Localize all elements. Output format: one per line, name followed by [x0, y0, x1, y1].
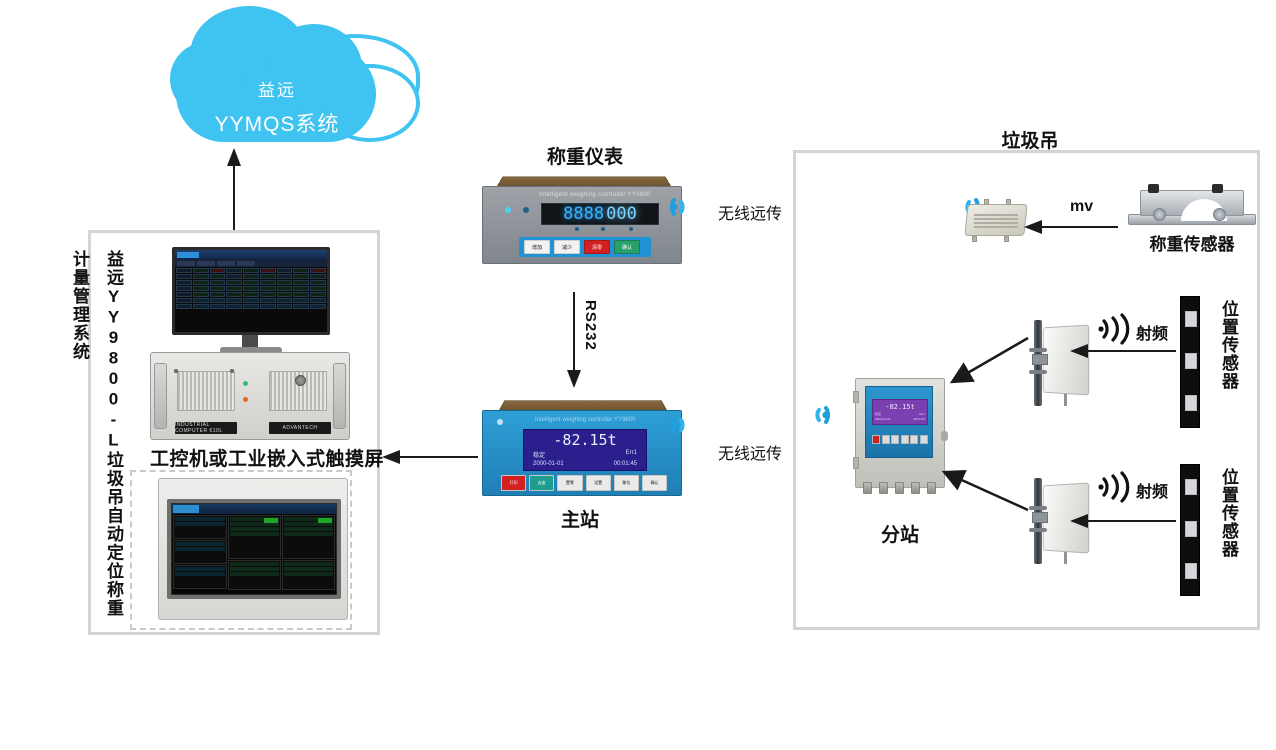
master-key-tare[interactable]: 去皮: [529, 475, 554, 491]
touchscreen-body: [172, 514, 336, 591]
substation-cable-gland: [895, 482, 904, 494]
meter-key-confirm[interactable]: 确认: [614, 240, 640, 254]
monitor-ui-cell: [310, 286, 326, 291]
monitor-ui-cell: [293, 298, 309, 303]
substation-hinge-top: [853, 391, 859, 403]
master-key-confirm[interactable]: 确认: [642, 475, 667, 491]
touchscreen-value: [175, 567, 225, 571]
industrial-pc-chassis: INDUSTRIAL COMPUTER 610L ADVANTECH: [150, 352, 350, 440]
monitor-ui-titlebar: [175, 250, 327, 259]
substation-hinge-bottom: [853, 457, 859, 469]
substation-key-print[interactable]: [872, 435, 880, 444]
pc-caption: 工控机或工业嵌入式触摸屏: [150, 444, 380, 471]
wireless-label-top: 无线远传: [718, 200, 782, 224]
position-sensor-tick: [1185, 521, 1197, 537]
monitor-ui-cell: [260, 280, 276, 285]
touchscreen-value: [175, 522, 225, 526]
transmitter-fin: [974, 222, 1018, 224]
touchscreen-value: [230, 527, 279, 531]
monitor-ui-cell: [243, 274, 259, 279]
transmitter-body: [964, 204, 1027, 236]
rf-label-bottom: 射频: [1136, 478, 1168, 502]
meter-indicator-2: [601, 227, 605, 231]
meter-front-panel: Intelligent weighing controller YY9800 8…: [482, 186, 682, 264]
master-lcd-statusrow: 稳定 Err1: [533, 450, 637, 459]
master-front-panel: Intelligent weighing controller YY9800 -…: [482, 410, 682, 496]
monitor-ui-cell: [243, 268, 259, 273]
meter-led-display: 8888 000: [541, 203, 659, 225]
monitor-ui-cell: [176, 304, 192, 309]
substation-key-tare[interactable]: [882, 435, 890, 444]
substation-key-setup[interactable]: [901, 435, 909, 444]
touchscreen-panel: [228, 515, 281, 559]
touchscreen-col-mid: [228, 515, 281, 590]
industrial-touchscreen: [158, 478, 348, 620]
arrow-antenna-bottom-to-substation: [930, 462, 1040, 572]
touchscreen-screen[interactable]: [171, 503, 337, 595]
monitor-ui-cell: [176, 298, 192, 303]
master-lcd-error: Err1: [626, 450, 637, 459]
monitor-ui-cell: [293, 292, 309, 297]
position-sensor-tick: [1185, 395, 1197, 411]
meter-indicator-3: [629, 227, 633, 231]
load-cell-sensor: [1128, 180, 1256, 232]
rf-label-top: 射频: [1136, 320, 1168, 344]
position-sensor-tick: [1185, 563, 1197, 579]
touchscreen-panel: [173, 515, 227, 539]
touchscreen-status-tag: [318, 518, 332, 523]
cloud-system: 益远 YYMQS系统: [170, 28, 430, 153]
master-lcd-weight: -82.15t: [553, 433, 616, 448]
monitor-ui-cell: [210, 304, 226, 309]
touchscreen-value: [284, 572, 333, 576]
master-brand-text: Intelligent weighing controller YY9800: [535, 417, 635, 423]
monitor-ui-cell: [243, 280, 259, 285]
arrow-panel-to-cloud-head: [227, 148, 241, 166]
substation-lcd-statusrow: 稳定 Err1: [875, 412, 925, 416]
meter-led-digits-bright: 000: [606, 206, 637, 223]
pc-screw-mid: [230, 369, 234, 373]
monitor-ui-cell: [193, 286, 209, 291]
pc-model-badge: INDUSTRIAL COMPUTER 610L: [175, 422, 237, 434]
substation-lcd-time: 00:01:45: [913, 417, 925, 421]
monitor-ui-cell: [210, 280, 226, 285]
transmitter-fin: [974, 226, 1018, 228]
monitor-ui-cell: [293, 280, 309, 285]
monitor-ui-cell: [310, 274, 326, 279]
monitor-ui-cell: [293, 268, 309, 273]
monitor-ui-button: [237, 261, 255, 266]
monitor-ui-cell: [210, 268, 226, 273]
touchscreen-col-left: [173, 515, 227, 590]
monitor-ui-cell: [293, 304, 309, 309]
substation-cable-gland: [879, 482, 888, 494]
monitor-ui-cell: [310, 268, 326, 273]
transmitter-nub: [984, 199, 989, 205]
master-station-caption: 主站: [490, 505, 670, 532]
monitor-ui-cell: [277, 280, 293, 285]
master-logo-mark: [497, 419, 503, 425]
touchscreen-panel: [228, 560, 281, 590]
monitor-ui-row: [176, 304, 326, 309]
wifi-icon-master: [668, 408, 702, 442]
touchscreen-value: [284, 567, 333, 571]
crane-area-title: 垃圾吊: [930, 126, 1130, 153]
master-lcd-time: 00:01:45: [614, 461, 637, 467]
arrow-loadcell-to-transmitter-head: [1024, 220, 1042, 234]
monitor-ui-grid: [175, 267, 327, 311]
transmitter-nub: [1006, 199, 1011, 205]
monitor-ui-cell: [193, 274, 209, 279]
monitor-ui-cell: [193, 292, 209, 297]
master-key-setup[interactable]: 设置: [586, 475, 611, 491]
monitor-ui-row: [176, 268, 326, 273]
monitor-ui-row: [176, 298, 326, 303]
master-keypad: 打印 去皮 置零 设置 移位 确认: [501, 475, 667, 491]
monitor-ui-cell: [210, 292, 226, 297]
substation-key-confirm[interactable]: [920, 435, 928, 444]
load-cell-caption: 称重传感器: [1128, 230, 1256, 255]
monitor-ui-row: [176, 274, 326, 279]
monitor-ui-cell: [243, 298, 259, 303]
monitor-ui-cell: [293, 286, 309, 291]
substation-latch[interactable]: [941, 431, 948, 441]
monitor-ui-cell: [277, 298, 293, 303]
monitor-ui-cell: [226, 274, 242, 279]
wireless-label-mid: 无线远传: [718, 440, 782, 464]
loadcell-body: [1140, 190, 1244, 216]
transmitter-nub: [1004, 236, 1009, 242]
pc-handle-right: [333, 363, 346, 429]
meter-brand-text: Intelligent weighing controller YY9800: [539, 192, 651, 198]
monitor-ui-cell: [310, 280, 326, 285]
arrow-sensor-bottom-to-antenna-line: [1086, 520, 1176, 522]
monitor-ui-cell: [226, 298, 242, 303]
touchscreen-panel: [282, 560, 335, 590]
arrow-loadcell-to-transmitter-line: [1040, 226, 1118, 228]
weighing-instrument-title: 称重仪表: [495, 142, 675, 169]
substation-lcd-datetimerow: 2000-01-01 00:01:45: [875, 417, 925, 421]
master-key-print[interactable]: 打印: [501, 475, 526, 491]
substation-key-zero[interactable]: [891, 435, 899, 444]
loadcell-bolt-right: [1212, 184, 1223, 193]
touchscreen-value: [175, 547, 225, 551]
monitor-ui-cell: [260, 274, 276, 279]
diagram-canvas: 益远 YYMQS系统 益远YY9800-L垃圾吊自动定位称重计量管理系统: [0, 0, 1276, 750]
master-lcd-status: 稳定: [533, 450, 545, 459]
meter-led-digits: 8888: [563, 206, 604, 223]
rs232-arrow-head: [567, 370, 581, 388]
position-sensor-bar-bottom: [1180, 464, 1200, 596]
monitor-screen: [172, 247, 330, 335]
pc-vent-left: [177, 371, 235, 411]
touchscreen-panel: [282, 515, 335, 559]
monitor-ui-cell: [260, 304, 276, 309]
arrow-master-to-panel-head: [382, 450, 400, 464]
monitor-ui-cell: [193, 304, 209, 309]
pc-brand-badge: ADVANTECH: [269, 422, 331, 434]
arrow-antenna-top-to-substation: [940, 330, 1040, 430]
monitor-ui-cell: [193, 280, 209, 285]
arrow-panel-to-cloud-line: [233, 165, 235, 233]
rs232-label: RS232: [582, 300, 599, 351]
arrow-master-to-panel-line: [398, 456, 478, 458]
monitor-ui-cell: [226, 286, 242, 291]
pc-screw-left: [174, 369, 178, 373]
substation-key-shift[interactable]: [910, 435, 918, 444]
substation-lcd: -82.15t 稳定 Err1 2000-01-01 00:01:45: [872, 399, 928, 425]
substation-keypad: [872, 435, 928, 444]
master-key-zero[interactable]: 置零: [557, 475, 582, 491]
wifi-icon-substation: [798, 398, 832, 432]
loadcell-bolt-left: [1148, 184, 1159, 193]
left-panel-title: 益远YY9800-L垃圾吊自动定位称重计量管理系统: [96, 250, 130, 620]
mv-signal-label: mv: [1070, 198, 1093, 216]
monitor-ui-cell: [310, 298, 326, 303]
touchscreen-value: [230, 562, 279, 566]
monitor-ui-cell: [243, 304, 259, 309]
meter-key-zero[interactable]: 清零: [584, 240, 610, 254]
touchscreen-value: [284, 527, 333, 531]
monitor-ui-cell: [260, 286, 276, 291]
position-sensor-tick: [1185, 311, 1197, 327]
monitor-ui-cell: [260, 292, 276, 297]
arrow-sensor-bottom-to-antenna-head: [1070, 514, 1088, 528]
monitor-ui-cell: [210, 298, 226, 303]
monitor-ui-cell: [277, 286, 293, 291]
monitor-ui-cell: [176, 292, 192, 297]
monitor-ui-button: [217, 261, 235, 266]
loadcell-hole-left: [1153, 208, 1166, 221]
master-lcd-date: 2000-01-01: [533, 461, 564, 467]
touchscreen-value: [175, 572, 225, 576]
monitor-ui-cell: [226, 304, 242, 309]
meter-keypad: 增加 减少 清零 确认: [519, 237, 651, 257]
antenna-connector: [1064, 552, 1067, 564]
monitor-ui-cell: [226, 268, 242, 273]
monitor-ui-cell: [310, 304, 326, 309]
position-sensor-bar-top: [1180, 296, 1200, 428]
substation-cable-gland: [911, 482, 920, 494]
monitor-ui-cell: [260, 268, 276, 273]
touchscreen-value: [175, 542, 225, 546]
master-lcd-datetimerow: 2000-01-01 00:01:45: [533, 461, 637, 467]
monitor-ui-cell: [210, 286, 226, 291]
loadcell-hole-right: [1213, 208, 1226, 221]
monitor-ui-cell: [226, 280, 242, 285]
substation-lcd-status: 稳定: [875, 412, 881, 416]
monitor-ui-cell: [277, 292, 293, 297]
arrow-sensor-top-to-antenna-line: [1086, 350, 1176, 352]
touchscreen-panel: [173, 565, 227, 589]
master-station: Intelligent weighing controller YY9800 -…: [482, 396, 682, 496]
monitor-ui-row: [176, 292, 326, 297]
substation-lcd-weight: -82.15t: [885, 404, 915, 411]
monitor-ui-cell: [277, 268, 293, 273]
monitor-ui-cell: [243, 286, 259, 291]
touchscreen-value: [284, 532, 333, 536]
rf-wave-icon-top: [1098, 312, 1140, 351]
monitor-ui-toolbar: [175, 259, 327, 267]
substation-panel: -82.15t 稳定 Err1 2000-01-01 00:01:45: [865, 386, 933, 458]
touchscreen-brandbar: [172, 504, 336, 514]
touchscreen-value: [230, 567, 279, 571]
monitor-ui-cell: [293, 274, 309, 279]
touchscreen-bezel: [167, 499, 341, 599]
pc-status-led-orange: [243, 397, 248, 402]
monitor-ui-cell: [277, 304, 293, 309]
monitor-ui-button: [177, 261, 195, 266]
touchscreen-panel: [173, 540, 227, 564]
position-sensor-tick: [1185, 353, 1197, 369]
master-key-shift[interactable]: 移位: [614, 475, 639, 491]
monitor-ui-cell: [176, 280, 192, 285]
monitor-ui-button: [197, 261, 215, 266]
meter-indicator-1: [575, 227, 579, 231]
desktop-monitor: [172, 247, 330, 352]
touchscreen-value: [230, 532, 279, 536]
pc-handle-left: [154, 363, 167, 429]
cloud-label-brand: 益远: [182, 76, 372, 101]
monitor-ui-cell: [243, 292, 259, 297]
weighing-instrument: Intelligent weighing controller YY9800 8…: [482, 172, 682, 264]
transmitter-fin: [974, 218, 1018, 220]
meter-key-increase[interactable]: 增加: [524, 240, 550, 254]
rf-wave-icon-bottom: [1098, 470, 1140, 509]
wireless-transmitter-module: [962, 198, 1030, 242]
touchscreen-value: [284, 562, 333, 566]
arrow-sensor-top-to-antenna-head: [1070, 344, 1088, 358]
touchscreen-col-right: [282, 515, 335, 590]
transmitter-fin: [974, 214, 1018, 216]
monitor-ui-cell: [193, 268, 209, 273]
touchscreen-value: [230, 572, 279, 576]
position-sensor-tick: [1185, 479, 1197, 495]
monitor-ui-cell: [176, 286, 192, 291]
transmitter-nub: [972, 236, 977, 242]
monitor-ui-cell: [176, 274, 192, 279]
substation-lcd-error: Err1: [919, 412, 925, 416]
touchscreen-value: [175, 517, 225, 521]
antenna-connector: [1064, 394, 1067, 406]
monitor-ui-cell: [277, 274, 293, 279]
substation-lcd-date: 2000-01-01: [875, 417, 890, 421]
substation-cable-gland: [863, 482, 872, 494]
monitor-ui-row: [176, 280, 326, 285]
meter-lamp-1: [505, 207, 511, 213]
meter-key-decrease[interactable]: 减少: [554, 240, 580, 254]
pc-power-knob[interactable]: [295, 375, 306, 386]
monitor-ui-cell: [176, 268, 192, 273]
wifi-icon-meter: [668, 190, 702, 224]
touchscreen-logo: [173, 505, 199, 513]
monitor-ui-cell: [310, 292, 326, 297]
position-sensor-label-bottom: 位置传感器: [1216, 468, 1241, 558]
monitor-ui-logo: [177, 252, 199, 258]
monitor-ui-cell: [226, 292, 242, 297]
pc-status-led-green: [243, 381, 248, 386]
position-sensor-label-top: 位置传感器: [1216, 300, 1241, 390]
master-lcd: -82.15t 稳定 Err1 2000-01-01 00:01:45: [523, 429, 647, 471]
monitor-ui-cell: [193, 298, 209, 303]
rs232-arrow-line: [573, 292, 575, 372]
touchscreen-status-tag: [264, 518, 278, 523]
monitor-ui-row: [176, 286, 326, 291]
monitor-ui-cell: [260, 298, 276, 303]
cloud-label-system: YYMQS系统: [182, 108, 372, 138]
antenna-panel: [1043, 324, 1089, 395]
meter-lamp-2: [523, 207, 529, 213]
monitor-ui-cell: [210, 274, 226, 279]
